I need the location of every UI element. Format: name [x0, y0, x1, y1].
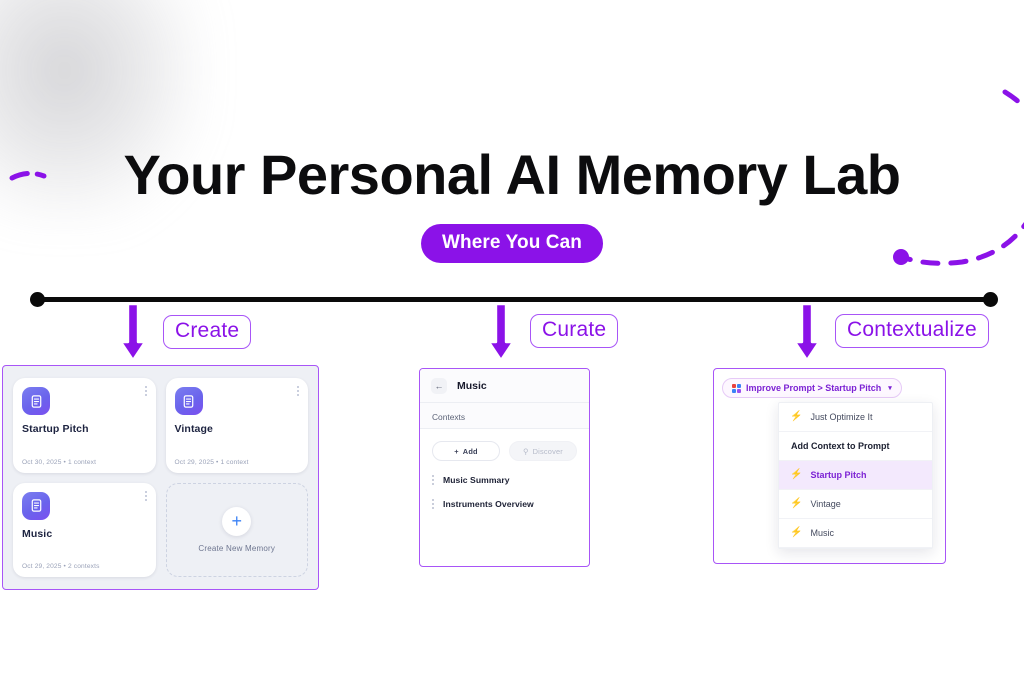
- panel-create: Startup Pitch Oct 30, 2025 • 1 context V…: [2, 365, 319, 590]
- panel-curate: ← Music Contexts + Add ⚲ Discover Music …: [419, 368, 590, 567]
- apps-grid-icon: [732, 384, 741, 393]
- contexts-list: Music Summary Instruments Overview: [420, 461, 589, 509]
- menu-item-label: Music: [810, 528, 834, 538]
- kebab-menu-icon[interactable]: [145, 491, 147, 501]
- discover-button[interactable]: ⚲ Discover: [509, 441, 577, 461]
- down-arrow-icon-curate: [486, 302, 516, 364]
- add-context-button[interactable]: + Add: [432, 441, 500, 461]
- menu-item-music[interactable]: ⚡ Music: [779, 519, 932, 548]
- drag-handle-icon[interactable]: [432, 499, 434, 509]
- improve-prompt-chip[interactable]: Improve Prompt > Startup Pitch ▾: [722, 378, 902, 398]
- bolt-icon: ⚡: [790, 528, 802, 538]
- memory-card-meta: Oct 29, 2025 • 2 contexts: [22, 563, 147, 570]
- memory-card[interactable]: Startup Pitch Oct 30, 2025 • 1 context: [13, 378, 156, 473]
- context-label: Instruments Overview: [443, 499, 534, 509]
- page-root: Your Personal AI Memory Lab Where You Ca…: [0, 0, 1024, 690]
- drag-handle-icon[interactable]: [432, 475, 434, 485]
- curate-header: ← Music: [420, 369, 589, 403]
- document-icon: [175, 387, 203, 415]
- document-icon: [22, 492, 50, 520]
- chevron-down-icon: ▾: [888, 384, 892, 392]
- curate-title: Music: [457, 380, 487, 392]
- kebab-menu-icon[interactable]: [297, 386, 299, 396]
- menu-item-label: Vintage: [810, 499, 840, 509]
- memory-card-meta: Oct 30, 2025 • 1 context: [22, 459, 147, 466]
- timeline-start-dot: [30, 292, 45, 307]
- contexts-section-label: Contexts: [420, 403, 589, 429]
- step-label-contextualize: Contextualize: [835, 314, 989, 348]
- step-label-curate: Curate: [530, 314, 618, 348]
- add-label: Add: [463, 447, 478, 456]
- memory-card[interactable]: Vintage Oct 29, 2025 • 1 context: [166, 378, 309, 473]
- bolt-icon: ⚡: [790, 499, 802, 509]
- menu-section-header: Add Context to Prompt: [779, 432, 932, 461]
- discover-label: Discover: [533, 447, 563, 456]
- menu-item-vintage[interactable]: ⚡ Vintage: [779, 490, 932, 519]
- menu-item-label: Startup Pitch: [810, 470, 866, 480]
- menu-item-just-optimize[interactable]: ⚡ Just Optimize It: [779, 403, 932, 432]
- memory-card[interactable]: Music Oct 29, 2025 • 2 contexts: [13, 483, 156, 578]
- page-title: Your Personal AI Memory Lab: [0, 142, 1024, 207]
- improve-prompt-label: Improve Prompt > Startup Pitch: [746, 383, 881, 393]
- context-actions-row: + Add ⚲ Discover: [420, 429, 589, 461]
- menu-item-label: Just Optimize It: [810, 412, 872, 422]
- list-item[interactable]: Instruments Overview: [432, 499, 577, 509]
- kebab-menu-icon[interactable]: [145, 386, 147, 396]
- bolt-icon: ⚡: [790, 470, 802, 480]
- down-arrow-icon-contextualize: [792, 302, 822, 364]
- memory-card-title: Music: [22, 528, 147, 540]
- create-new-memory-tile[interactable]: + Create New Memory: [166, 483, 309, 578]
- search-icon: ⚲: [523, 447, 529, 456]
- memory-card-meta: Oct 29, 2025 • 1 context: [175, 459, 300, 466]
- menu-section-label: Add Context to Prompt: [791, 441, 890, 451]
- plus-icon: +: [222, 507, 251, 536]
- document-icon: [22, 387, 50, 415]
- menu-item-startup-pitch[interactable]: ⚡ Startup Pitch: [779, 461, 932, 490]
- where-you-can-badge: Where You Can: [421, 224, 603, 263]
- list-item[interactable]: Music Summary: [432, 475, 577, 485]
- context-dropdown-menu: ⚡ Just Optimize It Add Context to Prompt…: [778, 402, 933, 549]
- panel-contextualize: Improve Prompt > Startup Pitch ▾ ⚡ Just …: [713, 368, 946, 564]
- bolt-icon: ⚡: [790, 412, 802, 422]
- memory-cards-grid: Startup Pitch Oct 30, 2025 • 1 context V…: [13, 378, 308, 577]
- step-label-create: Create: [163, 315, 251, 349]
- down-arrow-icon-create: [118, 302, 148, 364]
- timeline-end-dot: [983, 292, 998, 307]
- memory-card-title: Startup Pitch: [22, 423, 147, 435]
- plus-icon: +: [454, 447, 459, 456]
- create-new-memory-label: Create New Memory: [198, 544, 275, 553]
- memory-card-title: Vintage: [175, 423, 300, 435]
- context-label: Music Summary: [443, 475, 510, 485]
- back-arrow-icon[interactable]: ←: [431, 378, 447, 394]
